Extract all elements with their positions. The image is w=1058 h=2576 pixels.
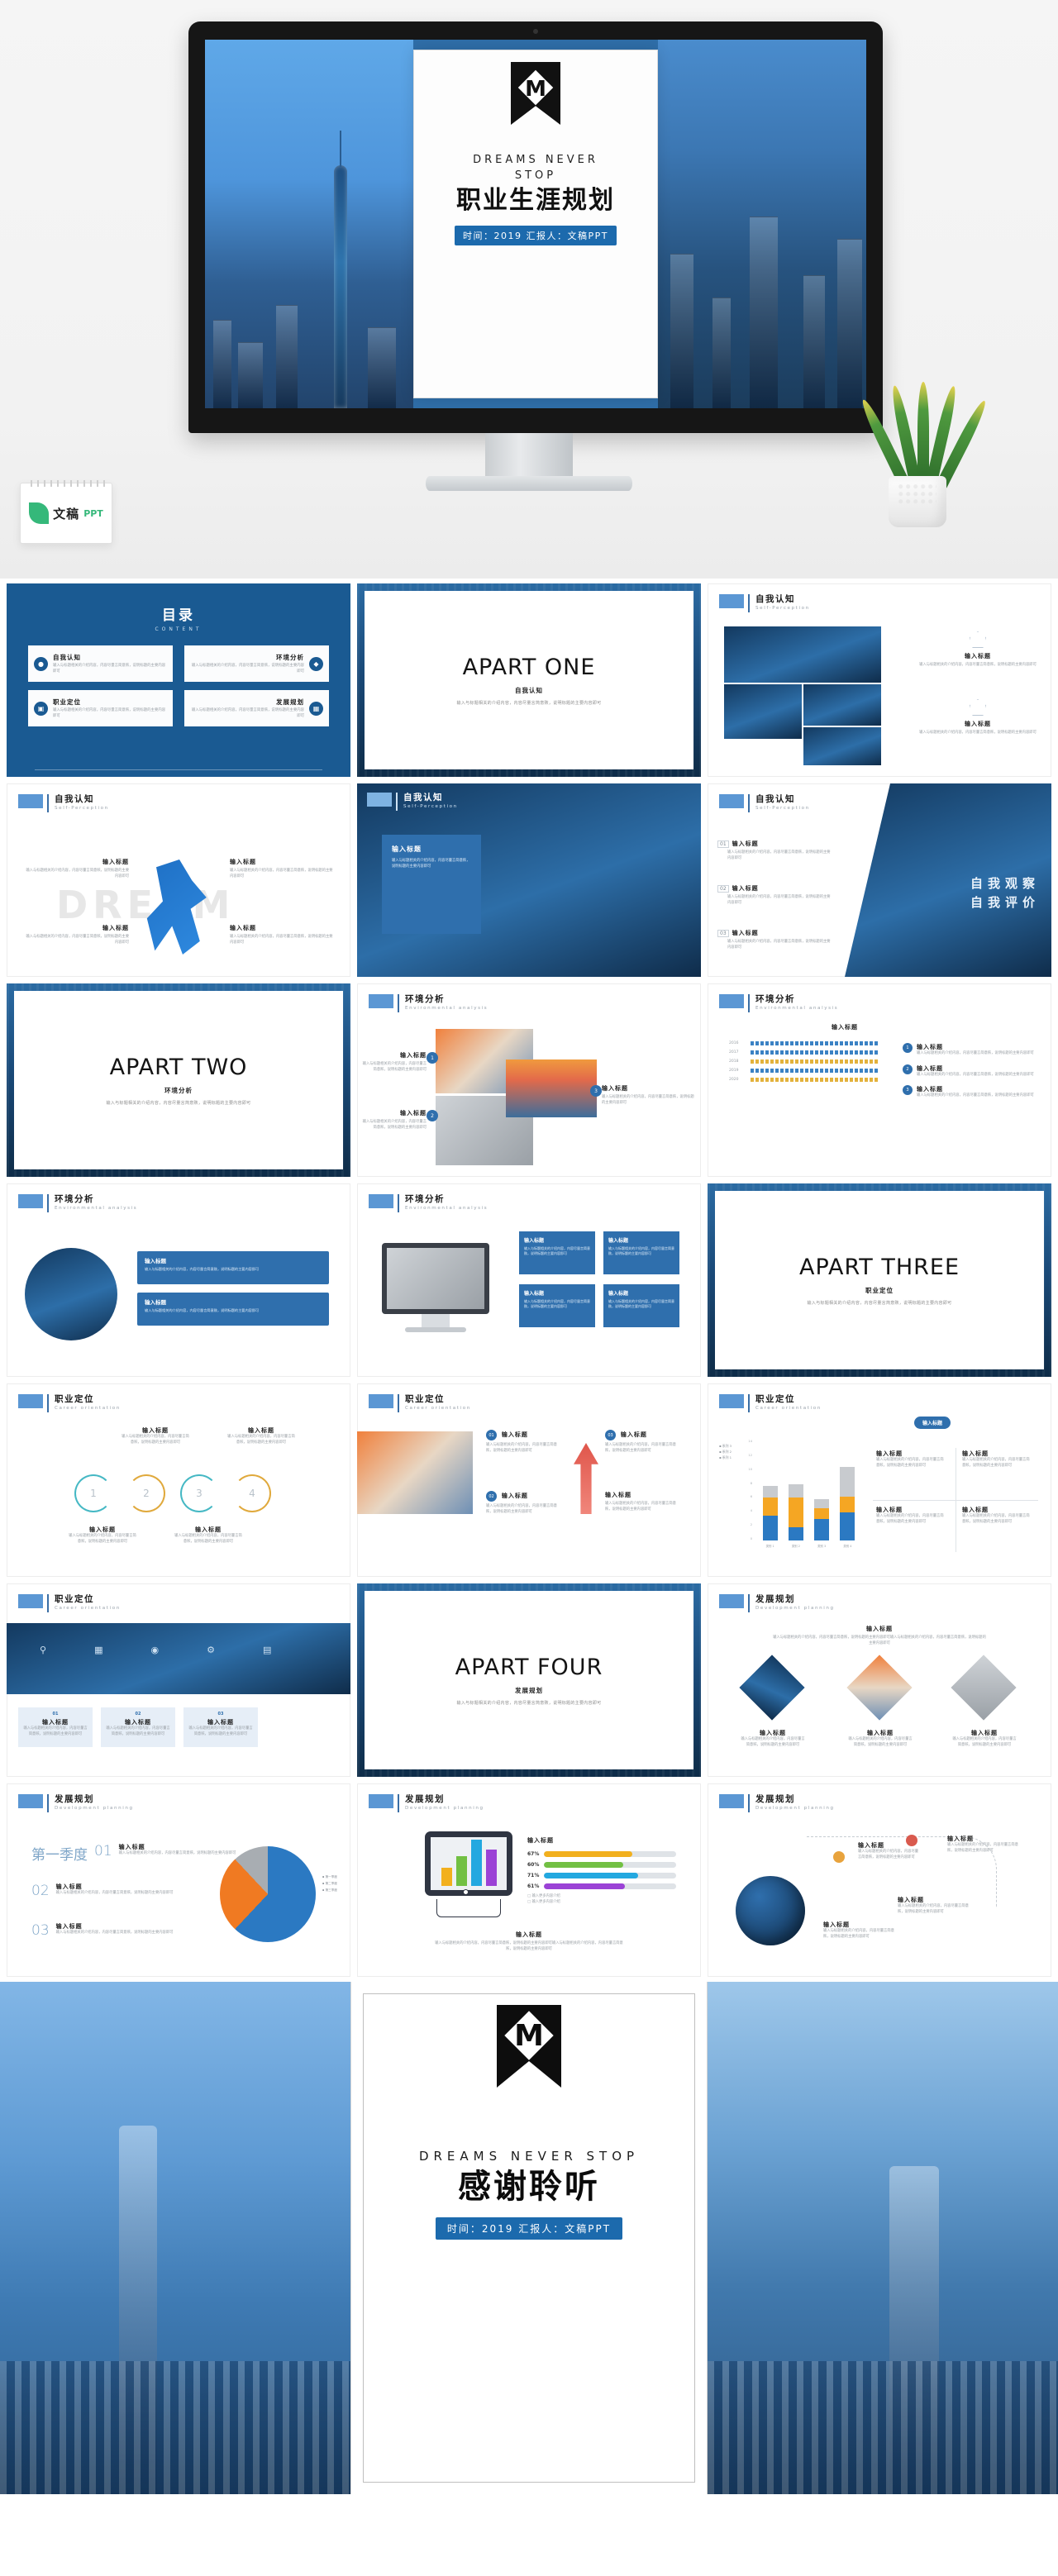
slide-thumbnail-grid: 目录 CONTENT ● 自我认知 输入与标题相关的介绍内容，内容尽量言简意赅，… xyxy=(0,579,1058,1977)
apart-subtitle: 发展规划 xyxy=(515,1686,543,1695)
item-title: 输入标题 xyxy=(524,1236,590,1244)
leaf-logo-icon xyxy=(29,502,49,524)
section-header: 发展规划 Development planning xyxy=(369,1794,484,1812)
cover-photo-right xyxy=(658,40,866,408)
apart-desc: 输入与标题相关的介绍内容，内容尽量言简意赅，说明标题的主要内容即可 xyxy=(457,1700,602,1706)
item-body: 输入与标题相关的介绍内容，内容尽量言简意赅，说明标题的主要内容即可 xyxy=(145,1267,322,1272)
section-header: 职业定位 Career orientation xyxy=(18,1594,121,1612)
ribbon-letter-m: M xyxy=(514,2021,544,2051)
card-body: 输入与标题相关的介绍内容，内容尽量言简意赅，说明标题的主要内容即可 xyxy=(105,1726,171,1737)
step-badge: 2 xyxy=(903,1064,913,1074)
item-title: 输入标题 xyxy=(226,1426,296,1435)
up-arrow-icon xyxy=(574,1443,598,1514)
numbered-item: 第一季度 01 输入标题输入与标题相关的介绍内容，内容尽量言简意赅，说明标题的主… xyxy=(31,1843,241,1864)
section-header: 职业定位 Career orientation xyxy=(18,1394,121,1412)
catalog-item[interactable]: ▣ 职业定位 输入与标题相关的介绍内容，内容尽量言简意赅，说明标题的主要内容即可 xyxy=(28,690,173,726)
ring-2: 2 xyxy=(127,1474,165,1512)
slide-career-barchart[interactable]: 职业定位 Career orientation 输入标题 ▪ 系列 3 ▪ 系列… xyxy=(708,1383,1051,1577)
globe-icon: ◉ xyxy=(150,1645,159,1655)
section-subtitle: Self-Perception xyxy=(755,606,810,611)
slide-self-perception-city[interactable]: 自我认知 Self-Perception 输入标题 输入与标题相关的介绍内容，内… xyxy=(357,783,701,977)
numbered-item: 02 输入标题输入与标题相关的介绍内容，内容尽量言简意赅，说明标题的主要内容即可 xyxy=(31,1883,179,1899)
numbered-item: 01 输入标题 输入与标题相关的介绍内容，内容尽量言简意赅，说明标题的主要内容即… xyxy=(717,840,833,861)
section-title: 自我认知 xyxy=(755,794,810,804)
presenter-badge-icon xyxy=(970,631,986,648)
slide-catalog[interactable]: 目录 CONTENT ● 自我认知 输入与标题相关的介绍内容，内容尽量言简意赅，… xyxy=(7,583,350,777)
section-subtitle: Career orientation xyxy=(755,1406,822,1411)
slide-dev-progress[interactable]: 发展规划 Development planning 输入标题 67% 60% 7… xyxy=(357,1783,701,1977)
catalog-item-desc: 输入与标题相关的介绍内容，内容尽量言简意赅，说明标题的主要内容即可 xyxy=(190,708,304,719)
catalog-divider xyxy=(35,769,322,770)
section-title: 自我认知 xyxy=(755,594,810,604)
card-number: 03 xyxy=(188,1712,254,1717)
card-title: 输入标题 xyxy=(105,1718,171,1726)
slide-dev-piechart[interactable]: 发展规划 Development planning 第一季度 01 输入标题输入… xyxy=(7,1783,350,1977)
section-title: 职业定位 xyxy=(755,1394,822,1404)
cover-meta-tag: 时间：2019 汇报人：文稿PPT xyxy=(455,226,617,245)
item-block: 输入标题输入与标题相关的介绍内容，内容尽量言简意赅，说明标题的主要内容即可 xyxy=(898,1896,969,1915)
section-header: 自我认知 Self-Perception xyxy=(719,594,810,612)
section-header: 环境分析 Environmental analysis xyxy=(719,994,838,1012)
search-icon: ⚲ xyxy=(40,1645,46,1655)
apart-desc: 输入与标题相关的介绍内容，内容尽量言简意赅，说明标题的主要内容即可 xyxy=(808,1300,952,1306)
section-title: 职业定位 xyxy=(405,1394,471,1404)
card-body: 输入与标题相关的介绍内容，内容尽量言简意赅，说明标题的主要内容即可 xyxy=(22,1726,88,1737)
numbered-item: 03 输入标题 输入与标题相关的介绍内容，内容尽量言简意赅，说明标题的主要内容即… xyxy=(717,929,833,950)
ribbon-letter-m: M xyxy=(525,79,546,100)
final-thankyou-slide: M DREAMS NEVER STOP 感谢聆听 时间：2019 汇报人：文稿P… xyxy=(0,1982,1058,2494)
item-block: 输入标题输入与标题相关的介绍内容，内容尽量言简意赅，说明标题的主要内容即可 xyxy=(947,1835,1018,1854)
pie-legend: ▪ 第一季度 ▪ 第二季度 ▪ 第三季度 xyxy=(322,1874,337,1894)
monitor-stand-base xyxy=(426,476,632,491)
catalog-item-desc: 输入与标题相关的介绍内容，内容尽量言简意赅，说明标题的主要内容即可 xyxy=(53,664,167,674)
section-header: 环境分析 Environmental analysis xyxy=(369,994,488,1012)
item-title: 输入标题 xyxy=(145,1298,322,1306)
monitor-bezel: M DREAMS NEVER STOP 职业生涯规划 时间：2019 汇报人：文… xyxy=(188,21,883,433)
section-title: 职业定位 xyxy=(55,1594,121,1604)
catalog-item-title: 环境分析 xyxy=(190,653,304,662)
catalog-item[interactable]: ● 自我认知 输入与标题相关的介绍内容，内容尽量言简意赅，说明标题的主要内容即可 xyxy=(28,645,173,682)
slide-dev-roadmap[interactable]: 发展规划 Development planning 输入标题输入与标题相关的介绍… xyxy=(708,1783,1051,1977)
section-subtitle: Environmental analysis xyxy=(405,1206,488,1211)
step-badge: 3 xyxy=(903,1085,913,1095)
catalog-item-desc: 输入与标题相关的介绍内容，内容尽量言简意赅，说明标题的主要内容即可 xyxy=(190,664,304,674)
section-subtitle: Career orientation xyxy=(405,1406,471,1411)
section-subtitle: Environmental analysis xyxy=(55,1206,137,1211)
section-title: 环境分析 xyxy=(755,994,838,1004)
chart-plot-area xyxy=(757,1440,860,1540)
header-square-icon xyxy=(719,594,744,608)
item-title: 输入标题 xyxy=(602,1084,694,1093)
catalog-subtitle: CONTENT xyxy=(15,626,342,632)
slide-env-monitor[interactable]: 环境分析 Environmental analysis 输入标题 输入与标题相关… xyxy=(357,1183,701,1377)
trophy-badge-icon xyxy=(970,699,986,716)
item-body: 输入与标题相关的介绍内容，内容尽量言简意赅，说明标题的主要内容即可 xyxy=(602,1095,694,1106)
step-badge: 3 xyxy=(590,1085,602,1097)
item-title: 输入标题 xyxy=(230,924,336,932)
item-body: 输入与标题相关的介绍内容，内容尽量言简意赅，说明标题的主要内容即可 xyxy=(23,935,129,945)
slide-env-collage[interactable]: 环境分析 Environmental analysis 输入标题 输入与标题相关… xyxy=(357,983,701,1177)
item-body: 输入与标题相关的介绍内容，内容尽量言简意赅，说明标题的主要内容即可 xyxy=(608,1299,674,1309)
section-header: 自我认知 Self-Perception xyxy=(367,793,458,811)
m-ribbon-logo-icon: M xyxy=(511,62,560,125)
catalog-item-title: 发展规划 xyxy=(190,698,304,707)
item-title: 输入标题 xyxy=(916,720,1040,728)
gear-icon: ⚙ xyxy=(207,1645,215,1655)
catalog-item[interactable]: ▦ 发展规划 输入与标题相关的介绍内容，内容尽量言简意赅，说明标题的主要内容即可 xyxy=(184,690,329,726)
step-badge: 1 xyxy=(427,1052,438,1064)
section-title: 环境分析 xyxy=(55,1194,137,1204)
ring-3: 3 xyxy=(180,1474,218,1512)
card-title: 输入标题 xyxy=(22,1718,88,1726)
section-title: 环境分析 xyxy=(405,994,488,1004)
item-body: 输入与标题相关的介绍内容，内容尽量言简意赅，说明标题的主要内容即可输入与标题相关… xyxy=(431,1941,627,1952)
progress-list: 67% 60% 71% 61% □ 输入更多内容介绍 □ 输入更多内容介绍 xyxy=(527,1851,676,1905)
section-header: 自我认知 Self-Perception xyxy=(719,794,810,812)
webcam-icon xyxy=(533,29,538,34)
item-body: 输入与标题相关的介绍内容，内容尽量言简意赅，说明标题的主要内容即可 xyxy=(23,869,129,879)
section-header: 职业定位 Career orientation xyxy=(369,1394,471,1412)
cover-slide-card: M DREAMS NEVER STOP 职业生涯规划 时间：2019 汇报人：文… xyxy=(413,50,658,398)
item-title: 输入标题 xyxy=(608,1289,674,1297)
item-title: 输入标题 xyxy=(174,1526,243,1534)
item-body: 输入与标题相关的介绍内容，内容尽量言简意赅，说明标题的主要内容即可 xyxy=(916,663,1040,669)
globe-icon xyxy=(736,1876,805,1945)
item-title: 输入标题 xyxy=(145,1256,322,1264)
section-title: 自我认知 xyxy=(55,794,109,804)
brand-suffix: PPT xyxy=(83,508,103,519)
section-header: 发展规划 Development planning xyxy=(719,1794,835,1812)
slide-env-list[interactable]: 环境分析 Environmental analysis 输入标题 2016 20… xyxy=(708,983,1051,1177)
slide-apart-one[interactable]: APART ONE 自我认知 输入与标题相关的介绍内容，内容尽量言简意赅，说明标… xyxy=(357,583,701,777)
item-body: 输入与标题相关的介绍内容，内容尽量言简意赅，说明标题的主要内容即可 xyxy=(362,1062,427,1073)
item-title: 输入标题 xyxy=(431,1931,627,1939)
canton-tower-shape xyxy=(334,165,347,408)
card-number: 02 xyxy=(105,1712,171,1717)
final-meta-tag: 时间：2019 汇报人：文稿PPT xyxy=(436,2217,622,2240)
apart-title: APART ONE xyxy=(463,655,596,680)
chart-title-pill: 输入标题 xyxy=(914,1417,951,1429)
section-title: 发展规划 xyxy=(755,1794,835,1804)
step-row: 输入标题 输入与标题相关的介绍内容，内容尽量言简意赅，说明标题的主要内容即可 xyxy=(605,1491,676,1512)
catalog-item-title: 职业定位 xyxy=(53,698,167,707)
apart-desc: 输入与标题相关的介绍内容，内容尽量言简意赅，说明标题的主要内容即可 xyxy=(457,700,602,706)
slide-env-circle[interactable]: 环境分析 Environmental analysis 输入标题 输入与标题相关… xyxy=(7,1183,350,1377)
target-icon: ▣ xyxy=(34,702,48,716)
section-subtitle: Development planning xyxy=(55,1806,134,1811)
layers-icon: ▤ xyxy=(263,1645,271,1655)
item-title: 输入标题 xyxy=(608,1236,674,1244)
item-body: 输入与标题相关的介绍内容，内容尽量言简意赅，说明标题的主要内容即可 xyxy=(230,935,336,945)
section-title: 发展规划 xyxy=(55,1794,134,1804)
brand-name: 文稿 xyxy=(53,505,79,522)
list-heading: 输入标题 xyxy=(832,1023,858,1031)
apart-title: APART FOUR xyxy=(455,1655,603,1680)
item-body: 输入与标题相关的介绍内容，内容尽量言简意赅，说明标题的主要内容即可 xyxy=(121,1435,190,1445)
apart-subtitle: 环境分析 xyxy=(164,1086,193,1095)
section-header: 环境分析 Environmental analysis xyxy=(369,1194,488,1212)
item-title: 输入标题 xyxy=(772,1625,987,1633)
catalog-item[interactable]: ◆ 环境分析 输入与标题相关的介绍内容，内容尽量言简意赅，说明标题的主要内容即可 xyxy=(184,645,329,682)
section-header: 环境分析 Environmental analysis xyxy=(18,1194,137,1212)
pie-chart xyxy=(220,1846,316,1942)
slide-self-observation[interactable]: 自我认知 Self-Perception 自我观察 自我评价 01 输入标题 输… xyxy=(708,783,1051,977)
item-title: 输入标题 xyxy=(524,1289,590,1297)
apart-subtitle: 自我认知 xyxy=(515,686,543,695)
hero-section: M DREAMS NEVER STOP 职业生涯规划 时间：2019 汇报人：文… xyxy=(0,0,1058,579)
section-header: 职业定位 Career orientation xyxy=(719,1394,822,1412)
card-title: 输入标题 xyxy=(188,1718,254,1726)
section-subtitle: Development planning xyxy=(755,1606,835,1611)
item-title: 输入标题 xyxy=(362,1051,427,1059)
panel-title: 输入标题 xyxy=(392,845,471,854)
slide-self-perception-images[interactable]: 自我认知 Self-Perception 输入标题 输入与标题相关的介绍内容，内… xyxy=(708,583,1051,777)
step-row: 01 输入标题 输入与标题相关的介绍内容，内容尽量言简意赅，说明标题的主要内容即… xyxy=(486,1430,557,1454)
section-title: 发展规划 xyxy=(405,1794,484,1804)
item-title: 输入标题 xyxy=(916,652,1040,660)
tools-icon: ◆ xyxy=(309,657,323,671)
banner-icons: ⚲ ▦ ◉ ⚙ ▤ xyxy=(40,1645,271,1655)
final-photo-left xyxy=(0,1982,350,2494)
apart-title: APART THREE xyxy=(799,1255,960,1280)
section-subtitle: Self-Perception xyxy=(403,804,458,809)
slide-apart-three[interactable]: APART THREE 职业定位 输入与标题相关的介绍内容，内容尽量言简意赅，说… xyxy=(708,1183,1051,1377)
monitor-mockup: M DREAMS NEVER STOP 职业生涯规划 时间：2019 汇报人：文… xyxy=(188,21,883,433)
slide-apart-four[interactable]: APART FOUR 发展规划 输入与标题相关的介绍内容，内容尽量言简意赅，说明… xyxy=(357,1583,701,1777)
item-body: 输入与标题相关的介绍内容，内容尽量言简意赅，说明标题的主要内容即可 xyxy=(145,1308,322,1313)
desk-plant xyxy=(868,370,967,527)
panel-body: 输入与标题相关的介绍内容，内容尽量言简意赅，说明标题的主要内容即可 xyxy=(392,859,471,870)
cover-title: 职业生涯规划 xyxy=(456,179,615,216)
step-row: 03 输入标题 输入与标题相关的介绍内容，内容尽量言简意赅，说明标题的主要内容即… xyxy=(605,1430,676,1454)
observation-headline: 自我观察 自我评价 xyxy=(970,874,1040,912)
final-card: M DREAMS NEVER STOP 感谢聆听 时间：2019 汇报人：文稿P… xyxy=(350,1982,708,2494)
waypoint-marker xyxy=(833,1851,845,1863)
chart-icon: ▦ xyxy=(94,1645,102,1655)
monitor-screen: M DREAMS NEVER STOP 职业生涯规划 时间：2019 汇报人：文… xyxy=(205,40,866,408)
item-title: 输入标题 xyxy=(23,858,129,866)
section-subtitle: Development planning xyxy=(405,1806,484,1811)
item-body: 输入与标题相关的介绍内容，内容尽量言简意赅，说明标题的主要内容即可输入与标题相关… xyxy=(772,1636,987,1646)
card-number: 01 xyxy=(22,1712,88,1717)
section-subtitle: Environmental analysis xyxy=(755,1006,838,1011)
item-block: 输入标题输入与标题相关的介绍内容，内容尽量言简意赅，说明标题的主要内容即可 xyxy=(858,1841,919,1860)
slide-career-banner[interactable]: 职业定位 Career orientation ⚲ ▦ ◉ ⚙ ▤ 01 输入标… xyxy=(7,1583,350,1777)
item-title: 输入标题 xyxy=(230,858,336,866)
slide-dev-diamonds[interactable]: 发展规划 Development planning 输入标题 输入与标题相关的介… xyxy=(708,1583,1051,1777)
plant-pot xyxy=(889,476,946,527)
section-subtitle: Development planning xyxy=(755,1806,835,1811)
section-subtitle: Self-Perception xyxy=(755,806,810,811)
monitor-stand-neck xyxy=(485,433,573,478)
item-title: 输入标题 xyxy=(23,924,129,932)
grid-icon: ▦ xyxy=(309,702,323,716)
section-title: 职业定位 xyxy=(55,1394,121,1404)
item-body: 输入与标题相关的介绍内容，内容尽量言简意赅，说明标题的主要内容即可 xyxy=(608,1246,674,1256)
section-title: 发展规划 xyxy=(755,1594,835,1604)
section-header: 发展规划 Development planning xyxy=(719,1594,835,1612)
section-subtitle: Career orientation xyxy=(55,1406,121,1411)
slide-dream-runner[interactable]: 自我认知 Self-Perception DREAM 输入标题 输入与标题相关的… xyxy=(7,783,350,977)
section-title: 自我认知 xyxy=(403,793,458,802)
chart-y-axis: 02 46 810 1214 xyxy=(729,1440,752,1540)
user-icon: ● xyxy=(34,657,48,671)
catalog-title: 目录 xyxy=(15,603,342,624)
step-row: 02 输入标题 输入与标题相关的介绍内容，内容尽量言简意赅，说明标题的主要内容即… xyxy=(486,1491,557,1515)
apart-desc: 输入与标题相关的介绍内容，内容尽量言简意赅，说明标题的主要内容即可 xyxy=(107,1100,251,1106)
section-subtitle: Environmental analysis xyxy=(405,1006,488,1011)
item-title: 输入标题 xyxy=(68,1526,137,1534)
step-badge: 2 xyxy=(427,1110,438,1121)
numbered-item: 03 输入标题输入与标题相关的介绍内容，内容尽量言简意赅，说明标题的主要内容即可 xyxy=(31,1922,179,1939)
item-body: 输入与标题相关的介绍内容，内容尽量言简意赅，说明标题的主要内容即可 xyxy=(524,1299,590,1309)
section-header: 自我认知 Self-Perception xyxy=(18,794,109,812)
final-photo-right xyxy=(708,1982,1058,2494)
ring-4: 4 xyxy=(233,1474,271,1512)
item-title: 输入标题 xyxy=(121,1426,190,1435)
desk-calendar-logo: 文稿 PPT xyxy=(20,483,112,544)
numbered-item: 02 输入标题 输入与标题相关的介绍内容，内容尽量言简意赅，说明标题的主要内容即… xyxy=(717,884,833,906)
item-body: 输入与标题相关的介绍内容，内容尽量言简意赅，说明标题的主要内容即可 xyxy=(226,1435,296,1445)
apart-subtitle: 职业定位 xyxy=(865,1286,894,1295)
catalog-item-title: 自我认知 xyxy=(53,653,167,662)
item-body: 输入与标题相关的介绍内容，内容尽量言简意赅，说明标题的主要内容即可 xyxy=(230,869,336,879)
final-title: 感谢聆听 xyxy=(458,2159,600,2207)
cover-photo-left xyxy=(205,40,413,408)
card-body: 输入与标题相关的介绍内容，内容尽量言简意赅，说明标题的主要内容即可 xyxy=(188,1726,254,1737)
item-title: 输入标题 xyxy=(362,1109,427,1117)
section-subtitle: Career orientation xyxy=(55,1606,121,1611)
item-body: 输入与标题相关的介绍内容，内容尽量言简意赅，说明标题的主要内容即可 xyxy=(68,1534,137,1545)
ring-1: 1 xyxy=(74,1474,112,1512)
slide-career-rings[interactable]: 职业定位 Career orientation 1 2 3 4 输入标题输入与标… xyxy=(7,1383,350,1577)
catalog-item-desc: 输入与标题相关的介绍内容，内容尽量言简意赅，说明标题的主要内容即可 xyxy=(53,708,167,719)
item-body: 输入与标题相关的介绍内容，内容尽量言简意赅，说明标题的主要内容即可 xyxy=(524,1246,590,1256)
chart-x-axis: 类别 1类别 2 类别 3类别 4 xyxy=(757,1544,860,1548)
section-header: 发展规划 Development planning xyxy=(18,1794,134,1812)
slide-career-growth[interactable]: 职业定位 Career orientation 01 输入标题 输入与标题相关的… xyxy=(357,1383,701,1577)
item-body: 输入与标题相关的介绍内容，内容尽量言简意赅，说明标题的主要内容即可 xyxy=(916,731,1040,736)
dream-watermark: DREAM xyxy=(56,883,235,927)
section-subtitle: Self-Perception xyxy=(55,806,109,811)
slide-apart-two[interactable]: APART TWO 环境分析 输入与标题相关的介绍内容，内容尽量言简意赅，说明标… xyxy=(7,983,350,1177)
item-block: 输入标题输入与标题相关的介绍内容，内容尽量言简意赅，说明标题的主要内容即可 xyxy=(823,1921,894,1940)
step-badge: 1 xyxy=(903,1043,913,1053)
apart-title: APART TWO xyxy=(110,1055,248,1080)
progress-heading: 输入标题 xyxy=(527,1836,554,1845)
section-title: 环境分析 xyxy=(405,1194,488,1204)
item-body: 输入与标题相关的介绍内容，内容尽量言简意赅，说明标题的主要内容即可 xyxy=(174,1534,243,1545)
item-body: 输入与标题相关的介绍内容，内容尽量言简意赅，说明标题的主要内容即可 xyxy=(362,1120,427,1131)
